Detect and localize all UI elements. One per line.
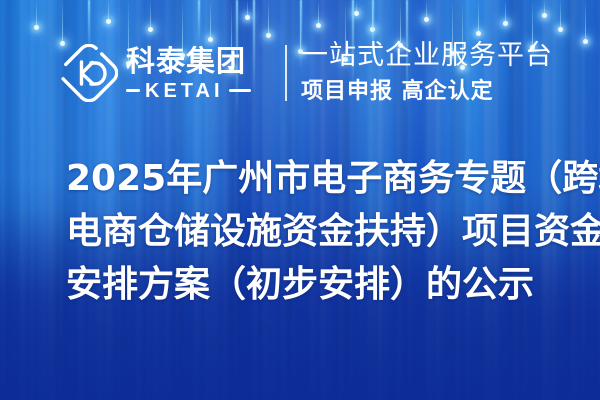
slogan-primary: 一站式企业服务平台 xyxy=(301,41,553,71)
wordmark-dash-left xyxy=(126,89,140,92)
brand-name-en: KETAI xyxy=(145,81,224,101)
brand-name-cn: 科泰集团 xyxy=(126,46,251,76)
title-line: 电商仓储设施资金扶持）项目资金 xyxy=(66,205,571,258)
slogan-secondary: 项目申报 高企认定 xyxy=(301,79,553,103)
brand-wordmark: 科泰集团 KETAI xyxy=(126,46,251,101)
wordmark-dash-right xyxy=(229,89,251,92)
title-line: 安排方案（初步安排）的公示 xyxy=(66,258,571,311)
brand-logo[interactable]: 科泰集团 KETAI xyxy=(60,44,251,102)
promo-banner: 科泰集团 KETAI 一站式企业服务平台 项目申报 高企认定 2025年广州市电… xyxy=(0,0,600,400)
title-line: 2025年广州市电子商务专题（跨境 xyxy=(66,152,571,205)
banner-title: 2025年广州市电子商务专题（跨境 电商仓储设施资金扶持）项目资金 安排方案（初… xyxy=(66,152,571,311)
ketai-diamond-kd-logo-icon xyxy=(60,44,118,102)
banner-header: 科泰集团 KETAI 一站式企业服务平台 项目申报 高企认定 xyxy=(0,0,600,130)
brand-name-en-row: KETAI xyxy=(126,81,251,101)
slogan-block: 一站式企业服务平台 项目申报 高企认定 xyxy=(301,41,553,103)
header-divider xyxy=(285,45,287,101)
